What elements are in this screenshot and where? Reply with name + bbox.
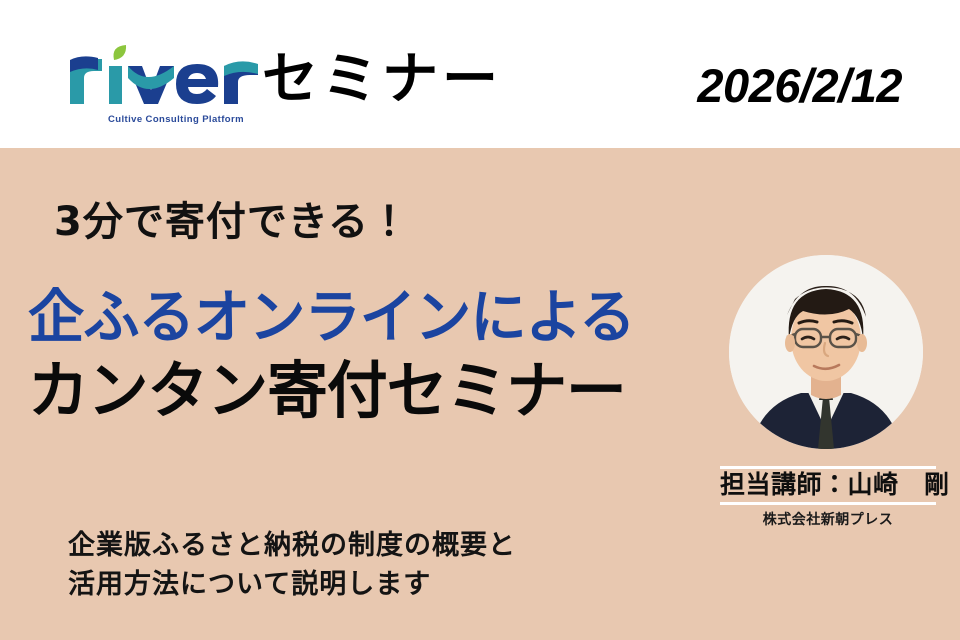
description-text: 企業版ふるさと納税の制度の概要と 活用方法について説明します	[68, 526, 516, 604]
speaker-name: 担当講師：山崎 剛	[720, 469, 936, 500]
header-band: Cultive Consulting Platform セミナー 2026/2/…	[0, 0, 960, 148]
speaker-rule-bottom	[720, 502, 936, 505]
seminar-flyer: Cultive Consulting Platform セミナー 2026/2/…	[0, 0, 960, 640]
kicker-text: 3分で寄付できる！	[54, 202, 410, 242]
description-line-1: 企業版ふるさと納税の制度の概要と	[68, 530, 516, 561]
river-logo: Cultive Consulting Platform	[64, 44, 264, 136]
body-area: 3分で寄付できる！ 企ふるオンラインによる カンタン寄付セミナー 企業版ふるさと…	[0, 148, 960, 640]
logo-wordmark-icon	[64, 44, 264, 110]
speaker-company: 株式会社新朝プレス	[720, 509, 936, 529]
event-date: 2026/2/12	[697, 62, 902, 109]
logo-tagline: Cultive Consulting Platform	[86, 114, 266, 125]
description-line-2: 活用方法について説明します	[68, 569, 431, 600]
speaker-portrait-icon	[729, 255, 923, 449]
headline-line-1: 企ふるオンラインによる	[28, 288, 635, 346]
headline-line-2: カンタン寄付セミナー	[28, 360, 626, 422]
seminar-label: セミナー	[262, 52, 502, 108]
speaker-photo	[729, 255, 923, 449]
